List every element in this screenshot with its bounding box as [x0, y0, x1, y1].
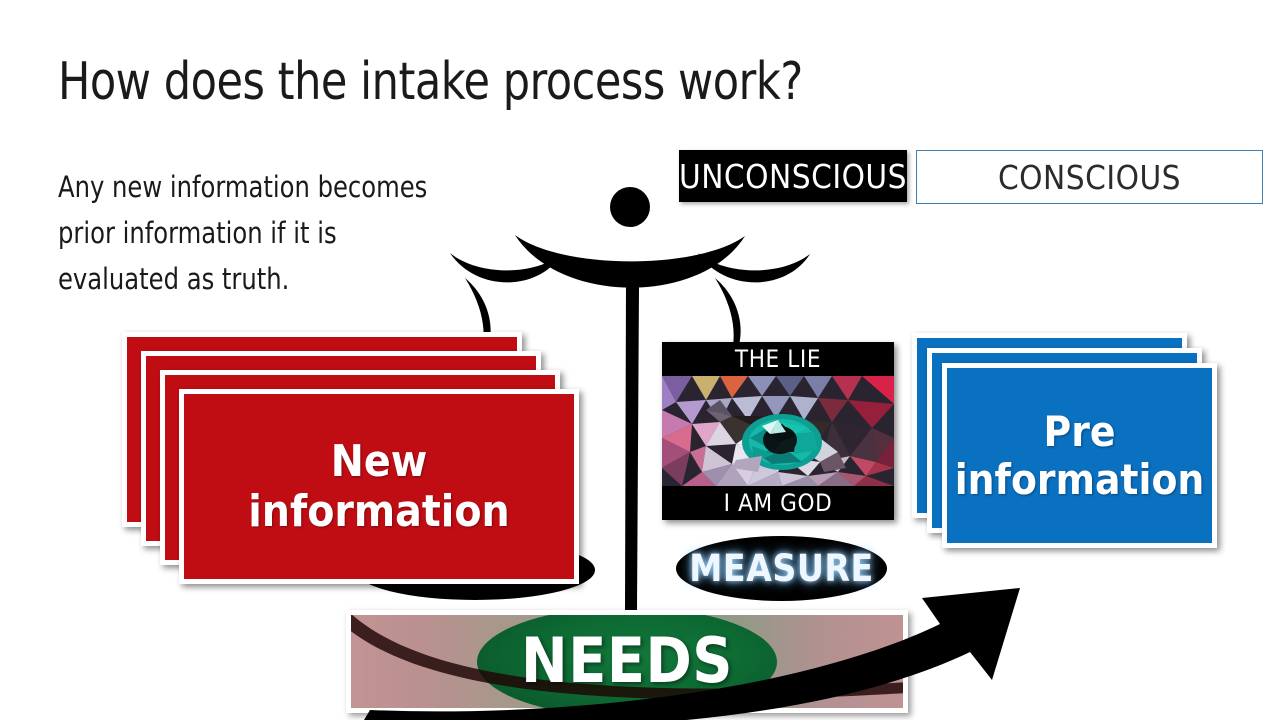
slide-body-text: Any new information becomes prior inform…: [58, 165, 467, 302]
low-poly-eye-icon: [662, 376, 894, 486]
body-line-1: Any new information becomes: [58, 165, 467, 211]
card-stack-pre-information: Pre information: [912, 333, 1227, 561]
the-lie-header: THE LIE: [662, 342, 894, 376]
label-conscious: CONSCIOUS: [916, 150, 1263, 204]
card-pre-information-label-line1: Pre: [1044, 407, 1116, 456]
card-new-information-label-line1: New: [331, 436, 428, 487]
needs-bar: NEEDS: [346, 610, 908, 713]
body-line-3: evaluated as truth.: [58, 257, 467, 303]
slide-canvas: How does the intake process work? Any ne…: [0, 0, 1280, 720]
card-new-information-label-line2: information: [248, 486, 510, 537]
card-pre-information-1[interactable]: Pre information: [942, 363, 1217, 548]
card-stack-new-information: New information: [122, 332, 587, 582]
card-pre-information-label-line2: information: [955, 455, 1205, 504]
the-lie-footer: I AM GOD: [662, 486, 894, 520]
the-lie-panel[interactable]: THE LIE: [662, 342, 894, 520]
body-line-2: prior information if it is: [58, 211, 467, 257]
card-new-information-1[interactable]: New information: [179, 389, 579, 584]
page-title: How does the intake process work?: [58, 52, 803, 112]
measure-badge: MEASURE: [676, 536, 887, 601]
needs-label: NEEDS: [351, 615, 903, 708]
